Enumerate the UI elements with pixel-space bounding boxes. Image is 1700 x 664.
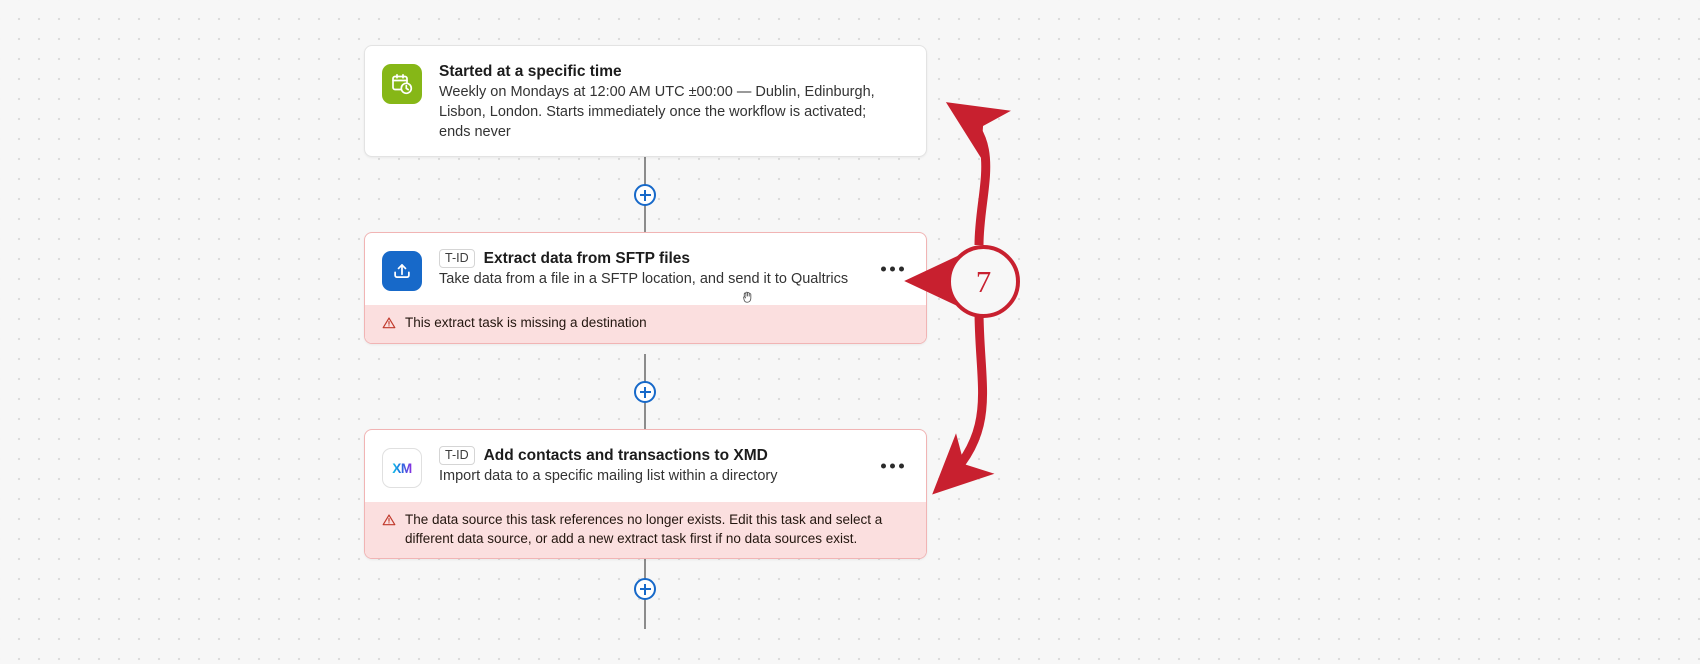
- annotation-arrow-to-trigger: [955, 108, 986, 245]
- extract-card-error-banner: This extract task is missing a destinati…: [365, 305, 926, 343]
- xm-logo-icon: XM: [382, 448, 422, 488]
- load-card-error-text: The data source this task references no …: [405, 511, 905, 548]
- extract-card-body: T-ID Extract data from SFTP files Take d…: [365, 233, 926, 305]
- kebab-dot: [890, 464, 895, 469]
- calendar-clock-icon: [382, 64, 422, 104]
- load-card-text: T-ID Add contacts and transactions to XM…: [439, 446, 910, 488]
- extract-card-menu-button[interactable]: [881, 267, 904, 272]
- extract-card-error-text: This extract task is missing a destinati…: [405, 314, 647, 333]
- trigger-card-title: Started at a specific time: [439, 62, 622, 81]
- xm-logo-glyph: XM: [385, 458, 419, 478]
- load-card-description: Import data to a specific mailing list w…: [439, 467, 900, 487]
- extract-card[interactable]: T-ID Extract data from SFTP files Take d…: [364, 232, 927, 344]
- workflow-canvas[interactable]: Started at a specific time Weekly on Mon…: [0, 0, 1700, 664]
- kebab-dot: [899, 267, 904, 272]
- load-card-error-banner: The data source this task references no …: [365, 502, 926, 558]
- kebab-dot: [881, 464, 886, 469]
- load-title-row: T-ID Add contacts and transactions to XM…: [439, 446, 900, 465]
- load-card-title: Add contacts and transactions to XMD: [484, 446, 768, 465]
- load-task-id-badge: T-ID: [439, 446, 475, 465]
- warning-triangle-icon: [382, 513, 396, 527]
- extract-task-id-badge: T-ID: [439, 249, 475, 268]
- add-step-button-1[interactable]: [634, 184, 656, 206]
- load-card-body: XM T-ID Add contacts and transactions to…: [365, 430, 926, 502]
- extract-card-title: Extract data from SFTP files: [484, 249, 690, 268]
- load-card[interactable]: XM T-ID Add contacts and transactions to…: [364, 429, 927, 559]
- trigger-card[interactable]: Started at a specific time Weekly on Mon…: [364, 45, 927, 157]
- add-step-button-2[interactable]: [634, 381, 656, 403]
- kebab-dot: [899, 464, 904, 469]
- annotation-arrow-to-load: [940, 310, 983, 487]
- trigger-card-text: Started at a specific time Weekly on Mon…: [439, 62, 910, 142]
- svg-text:XM: XM: [392, 461, 412, 476]
- extract-title-row: T-ID Extract data from SFTP files: [439, 249, 900, 268]
- warning-triangle-icon: [382, 316, 396, 330]
- trigger-card-description: Weekly on Mondays at 12:00 AM UTC ±00:00…: [439, 83, 900, 142]
- extract-card-text: T-ID Extract data from SFTP files Take d…: [439, 249, 910, 291]
- trigger-card-body: Started at a specific time Weekly on Mon…: [365, 46, 926, 156]
- extract-card-description: Take data from a file in a SFTP location…: [439, 270, 900, 290]
- upload-tray-icon: [382, 251, 422, 291]
- kebab-dot: [890, 267, 895, 272]
- kebab-dot: [881, 267, 886, 272]
- grab-hand-cursor-icon: [739, 288, 757, 306]
- annotation-step-badge: 7: [947, 245, 1020, 318]
- add-step-button-3[interactable]: [634, 578, 656, 600]
- trigger-title-row: Started at a specific time: [439, 62, 900, 81]
- load-card-menu-button[interactable]: [881, 464, 904, 469]
